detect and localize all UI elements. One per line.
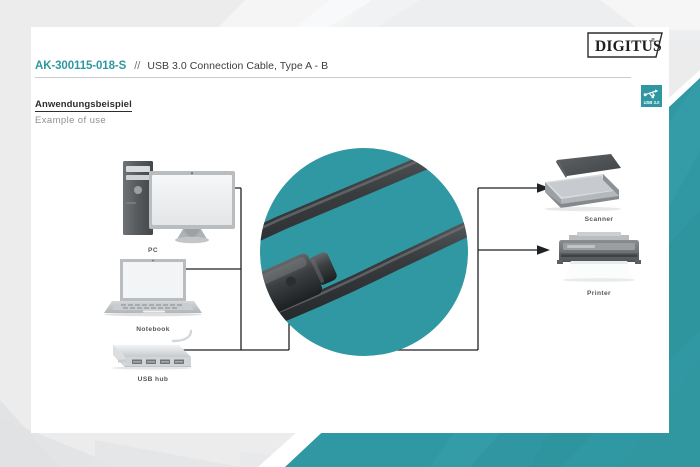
device-label-printer: Printer [587, 290, 611, 297]
section-heading-block: Anwendungsbeispiel Example of use [35, 94, 132, 126]
title-separator: // [126, 60, 147, 72]
title-divider [35, 77, 631, 78]
device-printer-icon [557, 232, 641, 282]
device-label-pc: PC [148, 247, 158, 254]
section-heading-en: Example of use [35, 115, 132, 126]
product-title-row: AK-300115-018-S // USB 3.0 Connection Ca… [35, 60, 631, 72]
device-notebook-icon [104, 259, 202, 316]
product-title: USB 3.0 Connection Cable, Type A - B [147, 60, 328, 72]
device-usb-hub-icon [112, 331, 192, 370]
article-number: AK-300115-018-S [35, 60, 126, 72]
device-label-notebook: Notebook [136, 326, 170, 333]
device-scanner-icon [545, 154, 621, 211]
usb-3-logo-badge: USB 3.0 [641, 85, 662, 107]
usb-badge-label: USB 3.0 [644, 100, 660, 105]
device-label-scanner: Scanner [585, 216, 614, 223]
application-diagram: PC Notebook [31, 135, 669, 395]
registered-trademark-symbol: ® [651, 37, 655, 44]
digitus-logo: DIGITUS ® [587, 32, 663, 58]
section-heading-de: Anwendungsbeispiel [35, 99, 132, 112]
device-pc-icon [123, 161, 235, 243]
device-label-usb-hub: USB hub [138, 376, 169, 383]
cable-hero-circle [55, 135, 501, 361]
